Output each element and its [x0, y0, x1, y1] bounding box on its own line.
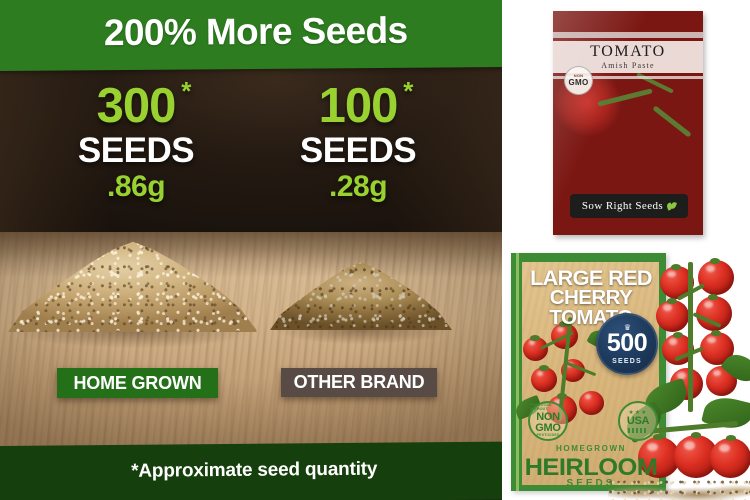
tomato-calyx — [557, 393, 567, 399]
usa-seal: ★★★ USA — [618, 401, 658, 441]
non-gmo-label-bottom: GMO — [568, 79, 588, 87]
label-other-brand: OTHER BRAND — [281, 368, 437, 397]
promo-header-banner: 200% More Seeds — [0, 0, 502, 71]
seed-mound — [8, 236, 258, 332]
non-gmo-seal: PRODUCED WITHOUT NON GMO PESTICIDES — [528, 401, 568, 441]
non-gmo-seal-bottom-text: PESTICIDES — [537, 434, 560, 438]
seed-packet-amish-paste[interactable]: TOMATO Amish Paste NON GMO Sow Right See… — [553, 11, 703, 235]
seed-pile-body — [8, 236, 258, 332]
asterisk-mark: * — [403, 78, 412, 104]
seed-count-value: 100 — [319, 79, 398, 133]
packet-title-line1: LARGE RED — [511, 269, 666, 289]
seed-count-home-grown: 300* — [97, 82, 176, 131]
non-gmo-badge: NON GMO — [564, 66, 593, 95]
seeds-label-other-brand: SEEDS — [258, 133, 458, 168]
seed-count-value: 500 — [607, 331, 647, 356]
seed-count-other-brand: 100* — [319, 82, 398, 131]
brand-bar: Sow Right Seeds — [570, 194, 688, 218]
seed-weight-other-brand: .28g — [258, 172, 458, 202]
brand-name: Sow Right Seeds — [582, 201, 663, 212]
tomato-fruit — [698, 260, 734, 295]
promo-comparison-panel: 300* SEEDS .86g 100* SEEDS .28g HOME GRO… — [0, 0, 502, 500]
seed-weight-home-grown: .86g — [36, 172, 236, 202]
seed-count-badge: ♛ 500 SEEDS — [596, 313, 658, 375]
seed-grain-texture — [270, 258, 452, 330]
tomato-fruit — [579, 391, 604, 415]
tomato-calyx — [673, 332, 683, 338]
tomato-calyx — [691, 432, 701, 438]
tomato-calyx — [708, 294, 718, 300]
packet-title: TOMATO — [590, 44, 666, 60]
tomato-calyx — [671, 264, 681, 270]
seed-count-value: 300 — [97, 79, 176, 133]
usa-flag-stripes-icon — [628, 428, 648, 433]
packet-variety: Amish Paste — [601, 62, 654, 70]
product-image-collage: 300* SEEDS .86g 100* SEEDS .28g HOME GRO… — [0, 0, 750, 500]
vine-stem — [688, 262, 693, 412]
tomato-calyx — [726, 435, 736, 441]
packet-top-rule — [553, 32, 703, 38]
tomato-calyx — [711, 330, 721, 336]
promo-footnote: *Approximate seed quantity — [0, 442, 502, 500]
seed-count-unit: SEEDS — [612, 358, 642, 365]
stat-block-home-grown: 300* SEEDS .86g — [36, 82, 236, 202]
seeds-label-home-grown: SEEDS — [36, 133, 236, 168]
seed-packet-large-red-cherry-tomato[interactable]: LARGE RED CHERRY TOMATO — [508, 248, 750, 500]
seed-mound — [270, 258, 452, 330]
tomato-calyx — [530, 335, 540, 341]
usa-seal-label: USA — [627, 416, 649, 427]
asterisk-mark: * — [181, 78, 190, 104]
seeds-label: SEEDS — [511, 479, 666, 489]
heirloom-label: HEIRLOOM — [511, 456, 666, 480]
tomato-fruit — [710, 438, 750, 478]
leaf-icon — [667, 202, 676, 211]
seed-grain-texture — [8, 236, 258, 332]
homegrown-label: HOMEGROWN — [511, 445, 666, 453]
label-home-grown: HOME GROWN — [57, 368, 218, 398]
seed-pile-home-grown — [8, 236, 258, 348]
seed-pile-body — [270, 258, 452, 330]
packet-card-front: LARGE RED CHERRY TOMATO — [511, 253, 666, 491]
promo-headline: 200% More Seeds — [0, 0, 502, 71]
promo-footer-banner: *Approximate seed quantity — [0, 442, 502, 500]
stat-block-other-brand: 100* SEEDS .28g — [258, 82, 458, 202]
tomato-calyx — [653, 434, 663, 440]
tomato-calyx — [710, 258, 720, 264]
seed-pile-other-brand — [270, 258, 452, 348]
tomato-calyx — [539, 365, 549, 371]
tomato-calyx — [667, 298, 677, 304]
